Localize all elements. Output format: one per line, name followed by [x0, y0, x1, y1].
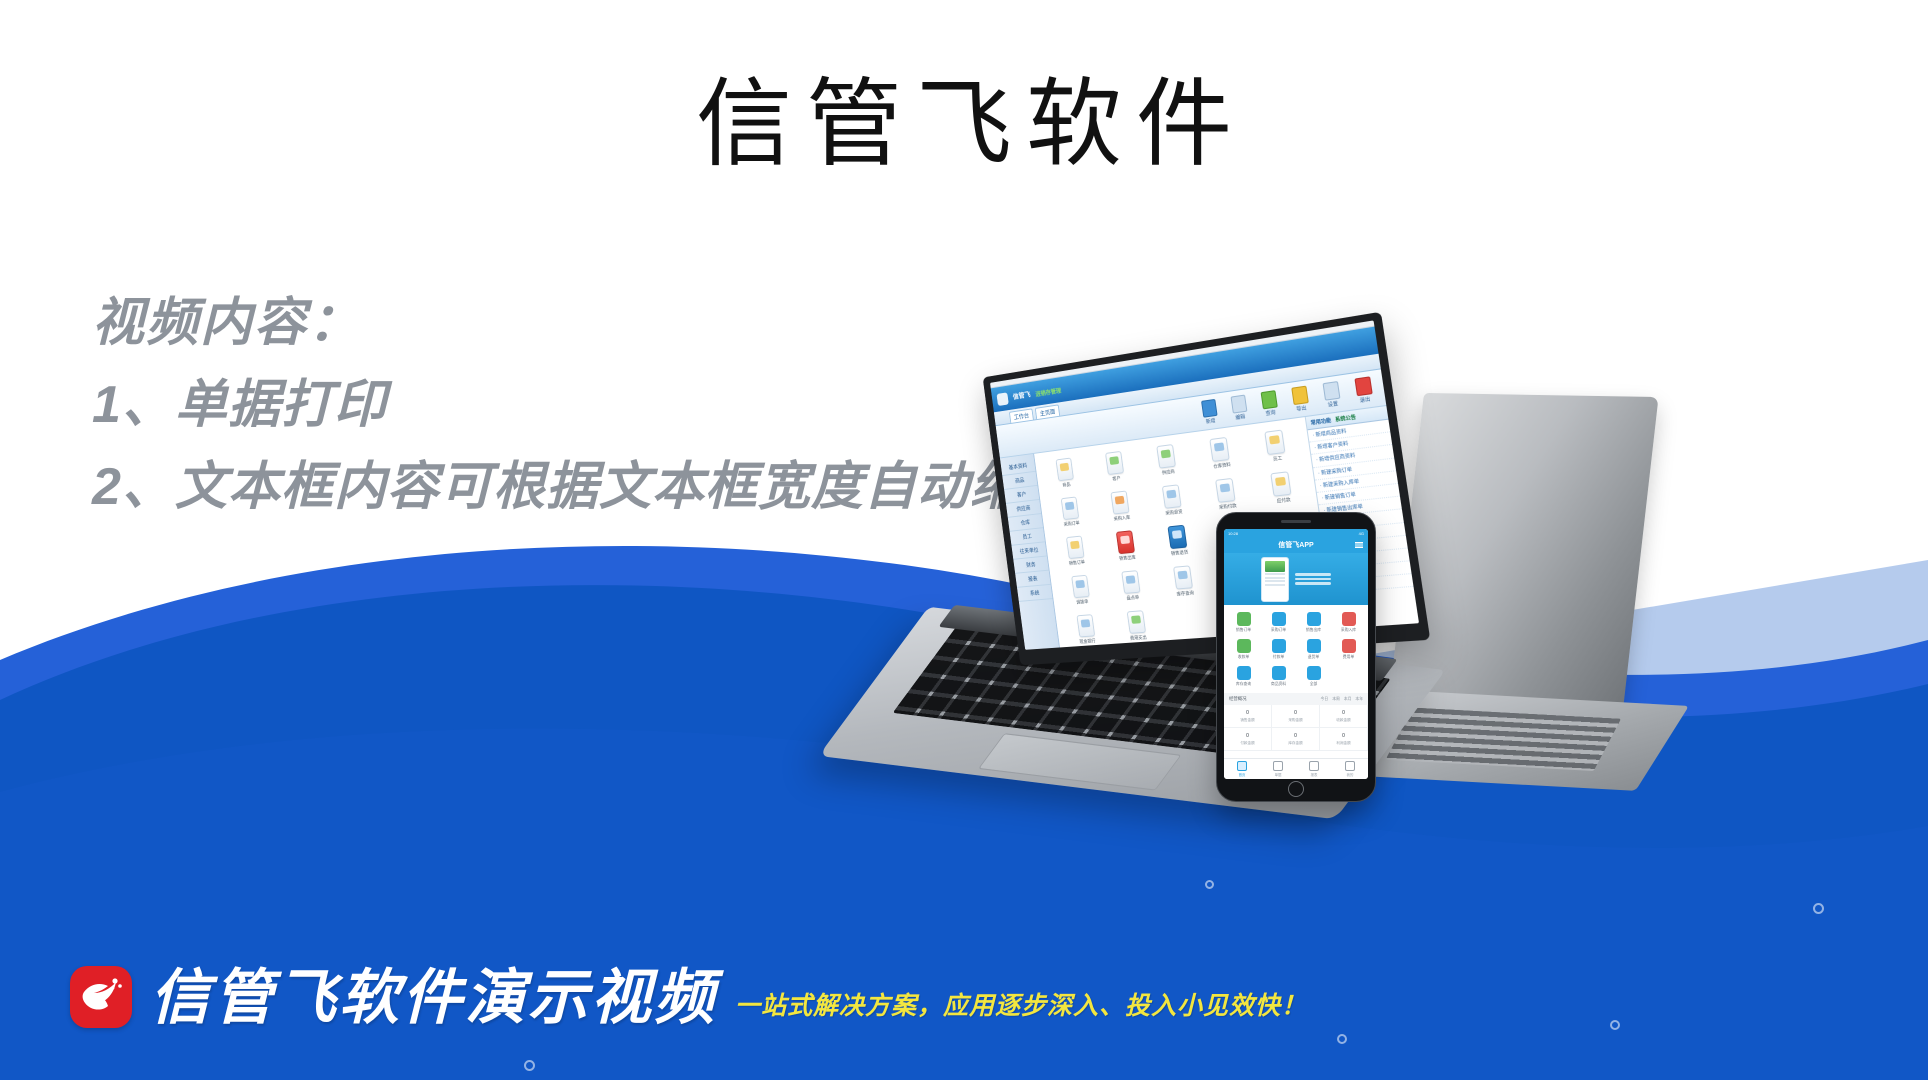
toolbar-label: 查询: [1265, 408, 1276, 416]
stat-label: 采购金额: [1272, 718, 1319, 723]
app-grid-item[interactable]: 费用支出: [1111, 609, 1163, 643]
phone-status-bar: 10:28 4G: [1224, 529, 1368, 537]
grid-item-icon: [1116, 530, 1135, 554]
section-tab[interactable]: 本月: [1344, 697, 1352, 702]
grid-item-label: 费用支出: [1130, 635, 1147, 642]
app-grid-item[interactable]: 库存查询: [1157, 564, 1211, 599]
phone-nav-label: 首页: [1239, 772, 1246, 777]
section-title: 经营概况: [1229, 696, 1247, 702]
phone-nav-label: 我的: [1347, 772, 1354, 777]
grid-item-label: 客户: [1112, 476, 1121, 483]
stat-label: 收款金额: [1320, 718, 1367, 723]
phone-grid-item[interactable]: 收款单: [1226, 639, 1261, 660]
grid-item-icon: [1162, 484, 1182, 509]
app-grid-item[interactable]: 采购入库: [1095, 489, 1147, 524]
gear-icon: [1322, 381, 1340, 401]
app-grid-item[interactable]: 盘点单: [1105, 569, 1157, 603]
app-grid-item[interactable]: 员工: [1247, 427, 1304, 465]
phone-grid-icon: [1272, 666, 1286, 680]
app-grid-item[interactable]: 采购订单: [1045, 495, 1095, 530]
grid-item-icon: [1110, 491, 1129, 515]
phone-grid-item[interactable]: 退货单: [1296, 639, 1331, 660]
phone-grid-label: 全部: [1310, 682, 1318, 687]
grid-item-label: 采购退货: [1165, 509, 1183, 517]
toolbar-button[interactable]: 新增: [1196, 398, 1222, 426]
grid-item-icon: [1121, 570, 1140, 594]
section-tabs: 今日 本周 本月 本年: [1321, 697, 1363, 702]
phone-screen: 10:28 4G 信管飞APP 销售订单采购订单销售出库采购入库收款单付款单退货…: [1224, 529, 1368, 779]
phone-stat-cell: 0付款金额: [1224, 728, 1272, 751]
phone-grid-icon: [1237, 612, 1251, 626]
decorative-dot: [1205, 880, 1214, 889]
section-tab[interactable]: 今日: [1321, 697, 1329, 702]
phone-scan-icon: [1261, 557, 1289, 602]
stat-label: 付款金额: [1224, 741, 1271, 746]
toolbar-label: 导出: [1296, 404, 1307, 413]
toolbar-button[interactable]: 导出: [1286, 385, 1314, 414]
sidebar-item[interactable]: 系统: [1017, 585, 1053, 602]
toolbar-button[interactable]: 设置: [1317, 380, 1345, 409]
app-grid-item[interactable]: 调拨单: [1056, 573, 1106, 607]
phone-grid-label: 销售订单: [1236, 628, 1251, 633]
phone-grid-item[interactable]: 采购订单: [1261, 612, 1296, 633]
stat-value: 0: [1224, 733, 1271, 739]
grid-item-label: 采购入库: [1113, 515, 1130, 523]
grid-item-icon: [1167, 525, 1187, 549]
toolbar-button[interactable]: 退出: [1349, 375, 1378, 405]
grid-item-icon: [1105, 451, 1124, 475]
app-grid-item[interactable]: 销售订单: [1051, 534, 1101, 568]
phone-grid-item[interactable]: 采购入库: [1331, 612, 1366, 633]
phone-grid-item[interactable]: 全部: [1296, 666, 1331, 687]
phone-icon-grid: 销售订单采购订单销售出库采购入库收款单付款单退货单费用单库存查询商品资料全部: [1224, 605, 1368, 693]
export-icon: [1291, 385, 1309, 404]
phone-grid-label: 商品资料: [1271, 682, 1286, 687]
phone-grid-item[interactable]: 费用单: [1331, 639, 1366, 660]
grid-item-label: 销售退货: [1171, 549, 1189, 557]
doc-icon: [1273, 761, 1283, 771]
grid-item-icon: [1215, 478, 1236, 503]
page-title: 信管飞软件: [0, 70, 1928, 180]
stat-value: 0: [1272, 710, 1319, 716]
home-icon: [1237, 761, 1247, 771]
toolbar-label: 退出: [1359, 395, 1371, 404]
stat-label: 销售金额: [1224, 718, 1271, 723]
chart-icon: [1309, 761, 1319, 771]
phone-stat-cell: 0采购金额: [1272, 705, 1320, 728]
search-icon: [1260, 390, 1277, 409]
grid-item-label: 仓库资料: [1213, 462, 1231, 470]
phone-grid-item[interactable]: 销售订单: [1226, 612, 1261, 633]
phone-stat-cell: 0库存金额: [1272, 728, 1320, 751]
app-grid-item[interactable]: 销售退货: [1151, 523, 1205, 559]
app-logo-icon: [996, 392, 1008, 406]
phone-grid-icon: [1272, 612, 1286, 626]
app-grid-item[interactable]: 销售出库: [1100, 529, 1152, 564]
phone-grid-icon: [1342, 639, 1356, 653]
phone-nav-label: 报表: [1311, 772, 1318, 777]
phone-speaker: [1281, 520, 1311, 523]
app-grid-item[interactable]: 采购退货: [1146, 482, 1199, 518]
grid-item-label: 商品: [1062, 482, 1071, 489]
grid-item-label: 员工: [1273, 455, 1283, 462]
decorative-dot: [1813, 903, 1824, 914]
right-panel-tab[interactable]: 常用功能: [1310, 416, 1331, 426]
grid-item-label: 采购付款: [1219, 503, 1237, 511]
toolbar-button[interactable]: 查询: [1256, 389, 1283, 418]
presentation-slide: 信管飞软件 视频内容： 1、单据打印 2、文本框内容可根据文本框宽度自动缩放: [0, 0, 1928, 1080]
grid-item-icon: [1271, 471, 1292, 496]
grid-item-label: 销售出库: [1119, 555, 1136, 562]
phone-banner-text: [1295, 573, 1331, 585]
app-grid-item[interactable]: 供应商: [1140, 442, 1193, 479]
stat-label: 利润金额: [1320, 741, 1367, 746]
stat-label: 库存金额: [1272, 741, 1319, 746]
phone-grid-label: 收款单: [1238, 655, 1249, 660]
status-time: 10:28: [1228, 531, 1238, 536]
footer-brand: 信管飞软件演示视频 一站式解决方案，应用逐步深入、投入小见效快！: [70, 966, 1307, 1028]
phone-grid-label: 费用单: [1343, 655, 1354, 660]
phone-grid-icon: [1237, 666, 1251, 680]
foreground-laptop: 信管飞 进销存管理 工作台 主页面 新增 编辑 查询 导出 设置 退出: [880, 380, 1480, 800]
section-tab[interactable]: 本年: [1355, 697, 1363, 702]
app-grid-item[interactable]: 仓库资料: [1193, 435, 1248, 472]
phone-banner: [1224, 553, 1368, 605]
grid-item-icon: [1055, 458, 1073, 482]
decorative-dot: [1610, 1020, 1620, 1030]
grid-item-label: 现金银行: [1079, 638, 1096, 645]
toolbar-label: 编辑: [1235, 412, 1246, 420]
brand-tagline: 一站式解决方案，应用逐步深入、投入小见效快！: [735, 986, 1307, 1028]
edit-icon: [1230, 394, 1247, 413]
grid-item-icon: [1076, 614, 1095, 637]
phone-grid-label: 采购订单: [1271, 628, 1286, 633]
phone-stat-cell: 0销售金额: [1224, 705, 1272, 728]
phone-nav-item[interactable]: 报表: [1296, 759, 1332, 779]
grid-item-label: 应付款: [1276, 497, 1291, 505]
home-button-icon[interactable]: [1288, 781, 1304, 797]
phone-app-header: 信管飞APP: [1224, 537, 1368, 553]
grid-item-label: 销售订单: [1069, 559, 1086, 566]
phone-grid-icon: [1307, 612, 1321, 626]
phone-nav-item[interactable]: 首页: [1224, 759, 1260, 779]
grid-item-label: 采购订单: [1063, 520, 1080, 527]
phone-grid-icon: [1342, 612, 1356, 626]
grid-item-icon: [1071, 575, 1090, 598]
phone-grid-icon: [1272, 639, 1286, 653]
phone-grid-item[interactable]: 商品资料: [1261, 666, 1296, 687]
app-grid-item[interactable]: 商品: [1040, 456, 1090, 491]
phone-grid-label: 付款单: [1273, 655, 1284, 660]
stat-value: 0: [1272, 733, 1319, 739]
grid-item-icon: [1156, 444, 1176, 469]
smartphone: 10:28 4G 信管飞APP 销售订单采购订单销售出库采购入库收款单付款单退货…: [1216, 512, 1376, 802]
phone-grid-item[interactable]: 库存查询: [1226, 666, 1261, 687]
phone-grid-label: 库存查询: [1236, 682, 1251, 687]
user-icon: [1345, 761, 1355, 771]
grid-item-label: 调拨单: [1076, 599, 1089, 606]
new-icon: [1200, 398, 1217, 417]
phone-section-header: 经营概况 今日 本周 本月 本年: [1224, 693, 1368, 705]
grid-item-icon: [1265, 429, 1286, 455]
phone-stat-cell: 0收款金额: [1320, 705, 1368, 728]
grid-item-icon: [1173, 565, 1193, 589]
phone-bottom-nav: 首页单据报表我的: [1224, 758, 1368, 779]
toolbar-label: 设置: [1327, 400, 1338, 409]
decorative-dot: [524, 1060, 535, 1071]
phone-nav-item[interactable]: 单据: [1260, 759, 1296, 779]
section-tab[interactable]: 本周: [1332, 697, 1340, 702]
phone-nav-item[interactable]: 我的: [1332, 759, 1368, 779]
grid-item-icon: [1060, 497, 1078, 521]
phone-grid-label: 采购入库: [1341, 628, 1356, 633]
app-grid-item[interactable]: 现金银行: [1061, 613, 1111, 646]
app-grid-item[interactable]: 采购付款: [1199, 476, 1254, 513]
app-grid-item[interactable]: 应付款: [1253, 469, 1310, 507]
phone-grid-label: 退货单: [1308, 655, 1319, 660]
stat-value: 0: [1320, 733, 1367, 739]
brand-title: 信管飞软件演示视频: [150, 968, 717, 1028]
decorative-dot: [1337, 1034, 1347, 1044]
grid-item-icon: [1127, 610, 1146, 634]
toolbar-button[interactable]: 编辑: [1226, 393, 1253, 421]
bird-logo-icon: [70, 966, 132, 1028]
grid-item-label: 盘点单: [1126, 595, 1139, 602]
exit-icon: [1354, 376, 1372, 396]
status-network: 4G: [1359, 531, 1364, 536]
phone-stat-cell: 0利润金额: [1320, 728, 1368, 751]
phone-grid-item[interactable]: 付款单: [1261, 639, 1296, 660]
phone-app-title: 信管飞APP: [1278, 540, 1313, 550]
phone-grid-icon: [1237, 639, 1251, 653]
phone-stats-grid: 0销售金额0采购金额0收款金额0付款金额0库存金额0利润金额: [1224, 705, 1368, 751]
right-panel-tab[interactable]: 系统公告: [1335, 413, 1357, 423]
grid-item-label: 供应商: [1162, 469, 1176, 476]
grid-item-label: 库存查询: [1176, 590, 1194, 597]
content-heading: 视频内容：: [92, 282, 1076, 364]
stat-value: 0: [1224, 710, 1271, 716]
grid-item-icon: [1066, 536, 1085, 560]
toolbar-label: 新增: [1205, 417, 1215, 425]
phone-grid-icon: [1307, 666, 1321, 680]
phone-grid-label: 销售出库: [1306, 628, 1321, 633]
app-grid-item[interactable]: 客户: [1089, 449, 1140, 485]
phone-grid-item[interactable]: 销售出库: [1296, 612, 1331, 633]
app-tag: 进销存管理: [1035, 385, 1062, 397]
grid-item-icon: [1210, 437, 1230, 462]
phone-grid-icon: [1307, 639, 1321, 653]
stat-value: 0: [1320, 710, 1367, 716]
phone-nav-label: 单据: [1275, 772, 1282, 777]
hamburger-icon[interactable]: [1355, 542, 1363, 548]
app-name: 信管飞: [1012, 390, 1031, 402]
devices-illustration: 信管飞 进销存管理 工作台 主页面 新增 编辑 查询 导出 设置 退出: [880, 380, 1700, 940]
